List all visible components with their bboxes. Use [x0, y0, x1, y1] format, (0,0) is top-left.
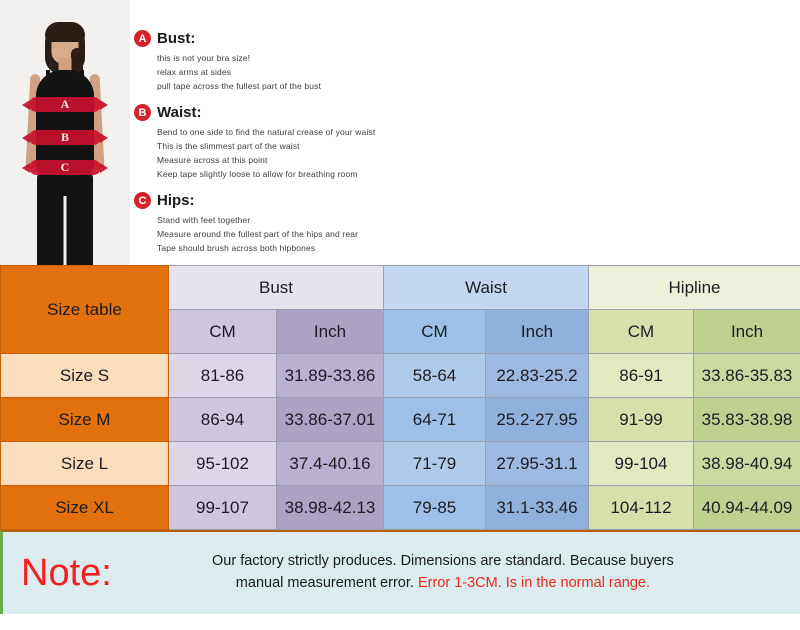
cell-hip-inch: 40.94-44.09 — [694, 486, 800, 530]
column-header-hip-cm: CM — [589, 310, 694, 354]
table-row: Size L 95-102 37.4-40.16 71-79 27.95-31.… — [1, 442, 800, 486]
column-group-waist: Waist — [384, 266, 589, 310]
row-label-size-l: Size L — [1, 442, 169, 486]
guide-line: this is not your bra size! — [134, 52, 800, 66]
cell-bust-inch: 31.89-33.86 — [277, 354, 384, 398]
note-text-line2-black: manual measurement error. — [236, 575, 418, 591]
size-table: Size table Bust Waist Hipline CM Inch CM… — [0, 265, 800, 530]
guide-head-bust: A Bust: — [134, 30, 800, 47]
cell-waist-cm: 64-71 — [384, 398, 486, 442]
badge-c-icon: C — [134, 192, 151, 209]
table-header-group-row: Size table Bust Waist Hipline — [1, 266, 800, 310]
column-header-waist-inch: Inch — [486, 310, 589, 354]
note-section: Note: Our factory strictly produces. Dim… — [0, 530, 800, 614]
badge-b-icon: B — [134, 104, 151, 121]
note-text-line2-red: Error 1-3CM. Is in the normal range. — [418, 575, 650, 591]
cell-waist-inch: 31.1-33.46 — [486, 486, 589, 530]
column-header-hip-inch: Inch — [694, 310, 800, 354]
cell-hip-inch: 35.83-38.98 — [694, 398, 800, 442]
guide-line: Tape should brush across both hipbones — [134, 242, 800, 256]
waist-measure-arrow-icon: B — [29, 130, 101, 145]
cell-hip-inch: 33.86-35.83 — [694, 354, 800, 398]
guide-line: Measure around the fullest part of the h… — [134, 228, 800, 242]
cell-bust-inch: 33.86-37.01 — [277, 398, 384, 442]
badge-a-icon: A — [134, 30, 151, 47]
model-photo: A B C — [0, 0, 130, 265]
column-group-hipline: Hipline — [589, 266, 800, 310]
cell-hip-cm: 99-104 — [589, 442, 694, 486]
shapewear-strap-left — [46, 70, 50, 84]
guide-title-waist: Waist: — [157, 104, 201, 121]
guide-line: Measure across at this point — [134, 154, 800, 168]
model-leg-gap — [64, 196, 67, 265]
guide-head-hips: C Hips: — [134, 192, 800, 209]
note-body: Our factory strictly produces. Dimension… — [122, 551, 786, 595]
note-text-line1: Our factory strictly produces. Dimension… — [212, 553, 674, 569]
cell-bust-cm: 86-94 — [169, 398, 277, 442]
column-header-bust-inch: Inch — [277, 310, 384, 354]
cell-bust-cm: 99-107 — [169, 486, 277, 530]
guide-line: Keep tape slightly loose to allow for br… — [134, 168, 800, 182]
column-header-waist-cm: CM — [384, 310, 486, 354]
cell-bust-cm: 81-86 — [169, 354, 277, 398]
row-label-size-xl: Size XL — [1, 486, 169, 530]
guide-text-column: A Bust: this is not your bra size! relax… — [130, 0, 800, 265]
model-hair-front — [45, 22, 85, 42]
bust-measure-arrow-icon: A — [29, 97, 101, 112]
guide-head-waist: B Waist: — [134, 104, 800, 121]
cell-hip-inch: 38.98-40.94 — [694, 442, 800, 486]
guide-block-bust: A Bust: this is not your bra size! relax… — [134, 30, 800, 93]
cell-waist-cm: 79-85 — [384, 486, 486, 530]
table-row: Size M 86-94 33.86-37.01 64-71 25.2-27.9… — [1, 398, 800, 442]
cell-waist-inch: 27.95-31.1 — [486, 442, 589, 486]
cell-bust-inch: 38.98-42.13 — [277, 486, 384, 530]
measurement-guide-section: A B C A Bust: this is not your bra size!… — [0, 0, 800, 265]
row-label-size-s: Size S — [1, 354, 169, 398]
row-label-size-m: Size M — [1, 398, 169, 442]
guide-line: Stand with feet together — [134, 214, 800, 228]
shapewear-strap-right — [80, 70, 84, 84]
cell-waist-inch: 25.2-27.95 — [486, 398, 589, 442]
note-label: Note: — [21, 554, 122, 592]
cell-waist-inch: 22.83-25.2 — [486, 354, 589, 398]
table-row: Size XL 99-107 38.98-42.13 79-85 31.1-33… — [1, 486, 800, 530]
table-row: Size S 81-86 31.89-33.86 58-64 22.83-25.… — [1, 354, 800, 398]
cell-hip-cm: 86-91 — [589, 354, 694, 398]
column-group-bust: Bust — [169, 266, 384, 310]
guide-block-waist: B Waist: Bend to one side to find the na… — [134, 104, 800, 181]
cell-waist-cm: 71-79 — [384, 442, 486, 486]
guide-line: This is the slimmest part of the waist — [134, 140, 800, 154]
guide-block-hips: C Hips: Stand with feet together Measure… — [134, 192, 800, 255]
guide-title-bust: Bust: — [157, 30, 195, 47]
cell-hip-cm: 91-99 — [589, 398, 694, 442]
cell-bust-inch: 37.4-40.16 — [277, 442, 384, 486]
hips-measure-arrow-icon: C — [29, 160, 101, 175]
size-table-corner-label: Size table — [1, 266, 169, 354]
column-header-bust-cm: CM — [169, 310, 277, 354]
guide-line: relax arms at sides — [134, 66, 800, 80]
cell-hip-cm: 104-112 — [589, 486, 694, 530]
cell-waist-cm: 58-64 — [384, 354, 486, 398]
guide-line: Bend to one side to find the natural cre… — [134, 126, 800, 140]
guide-line: pull tape across the fullest part of the… — [134, 80, 800, 94]
cell-bust-cm: 95-102 — [169, 442, 277, 486]
guide-title-hips: Hips: — [157, 192, 195, 209]
